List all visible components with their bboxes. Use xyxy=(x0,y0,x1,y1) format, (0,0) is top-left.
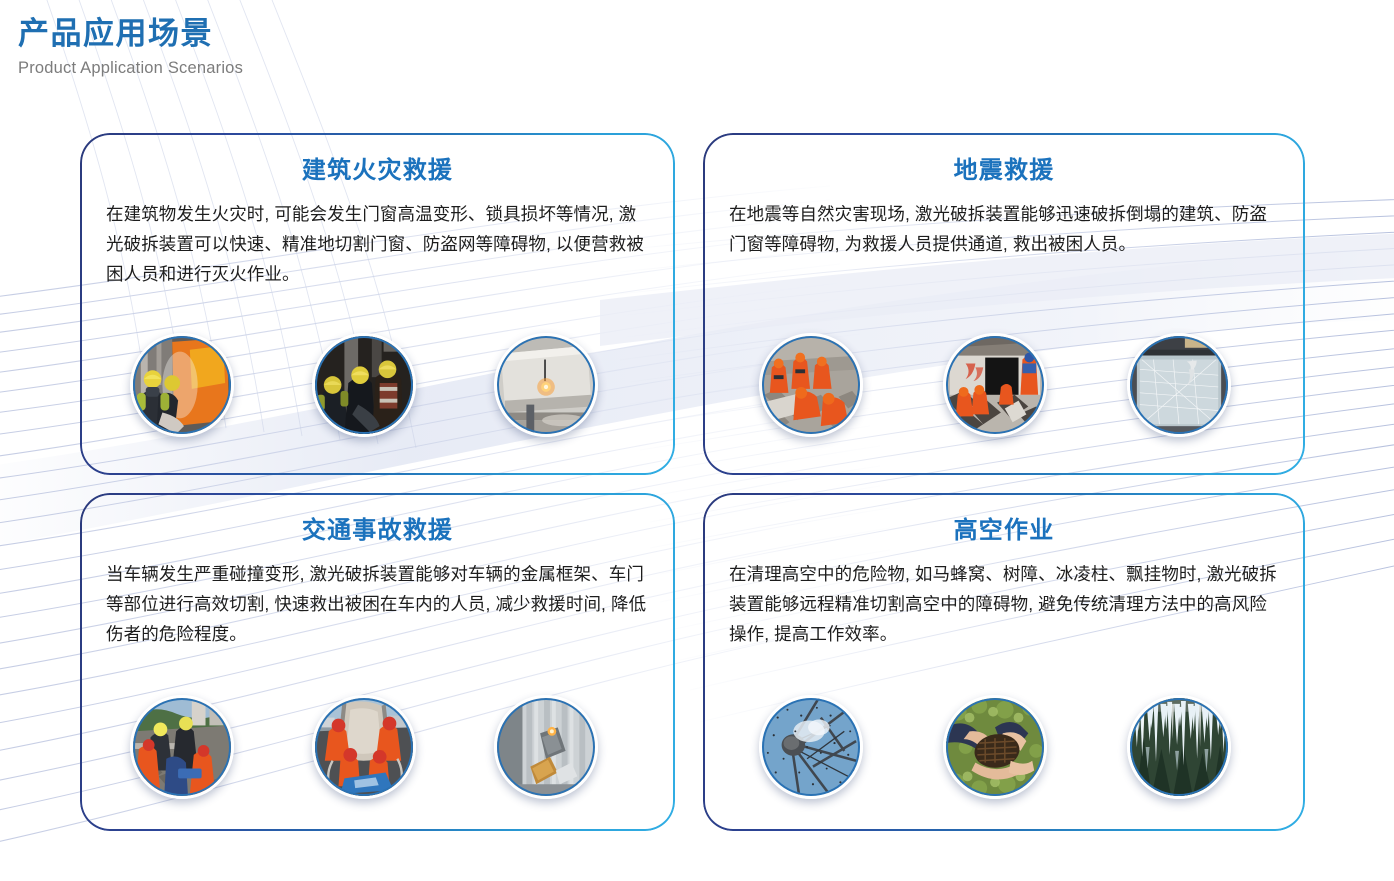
laser-cutting-concrete-photo[interactable] xyxy=(494,333,598,437)
card-building-fire-rescue[interactable]: 建筑火灾救援 在建筑物发生火灾时, 可能会发生门窗高温变形、锁具损坏等情况, 激… xyxy=(80,133,675,475)
firefighters-spraying-flame-photo[interactable] xyxy=(130,333,234,437)
thumb-slot-1[interactable] xyxy=(759,333,863,437)
thumb-slot-1[interactable] xyxy=(759,695,863,799)
poster-header: 产品应用场景 Product Application Scenarios xyxy=(18,16,243,78)
card-body-text: 在建筑物发生火灾时, 可能会发生门窗高温变形、锁具损坏等情况, 激光破拆装置可以… xyxy=(106,199,649,289)
card-title: 高空作业 xyxy=(703,510,1305,545)
thumb-slot-1[interactable] xyxy=(130,695,234,799)
firefighters-in-smoke-photo[interactable] xyxy=(312,333,416,437)
card-body: 在清理高空中的危险物, 如马蜂窝、树障、冰凌柱、飘挂物时, 激光破拆装置能够远程… xyxy=(703,559,1305,649)
page-subtitle: Product Application Scenarios xyxy=(18,59,243,79)
thumb-slot-2[interactable] xyxy=(312,333,416,437)
card-body: 当车辆发生严重碰撞变形, 激光破拆装置能够对车辆的金属框架、车门等部位进行高效切… xyxy=(80,559,675,649)
thumb-slot-3[interactable] xyxy=(494,695,598,799)
card-earthquake-rescue[interactable]: 地震救援 在地震等自然灾害现场, 激光破拆装置能够迅速破拆倒塌的建筑、防盗门窗等… xyxy=(703,133,1305,475)
card-body: 在建筑物发生火灾时, 可能会发生门窗高温变形、锁具损坏等情况, 激光破拆装置可以… xyxy=(80,199,675,289)
thumb-slot-3[interactable] xyxy=(1127,695,1231,799)
thumb-slot-2[interactable] xyxy=(943,695,1047,799)
thumb-slot-2[interactable] xyxy=(312,695,416,799)
card-title: 建筑火灾救援 xyxy=(80,150,675,185)
thumb-slot-2[interactable] xyxy=(943,333,1047,437)
card-title: 交通事故救援 xyxy=(80,510,675,545)
thumb-slot-3[interactable] xyxy=(1127,333,1231,437)
thumb-slot-3[interactable] xyxy=(494,333,598,437)
collapsed-building-opening-photo[interactable] xyxy=(943,333,1047,437)
page-title: 产品应用场景 xyxy=(18,16,243,52)
vehicle-crash-rescue-photo[interactable] xyxy=(130,695,234,799)
card-body-text: 在清理高空中的危险物, 如马蜂窝、树障、冰凌柱、飘挂物时, 激光破拆装置能够远程… xyxy=(729,559,1279,649)
card-body-text: 当车辆发生严重碰撞变形, 激光破拆装置能够对车辆的金属框架、车门等部位进行高效切… xyxy=(106,559,649,649)
card-body-text: 在地震等自然灾害现场, 激光破拆装置能够迅速破拆倒塌的建筑、防盗门窗等障碍物, … xyxy=(729,199,1279,259)
thumb-slot-1[interactable] xyxy=(130,333,234,437)
poster-canvas: 产品应用场景 Product Application Scenarios 建筑火… xyxy=(0,0,1394,881)
card-traffic-accident-rescue[interactable]: 交通事故救援 当车辆发生严重碰撞变形, 激光破拆装置能够对车辆的金属框架、车门等… xyxy=(80,493,675,831)
shattered-security-window-photo[interactable] xyxy=(1127,333,1231,437)
rescuers-lifting-car-roof-photo[interactable] xyxy=(312,695,416,799)
icicles-on-trees-photo[interactable] xyxy=(1127,695,1231,799)
laser-cutting-metal-pole-photo[interactable] xyxy=(494,695,598,799)
card-high-altitude-operation[interactable]: 高空作业 在清理高空中的危险物, 如马蜂窝、树障、冰凌柱、飘挂物时, 激光破拆装… xyxy=(703,493,1305,831)
card-body: 在地震等自然灾害现场, 激光破拆装置能够迅速破拆倒塌的建筑、防盗门窗等障碍物, … xyxy=(703,199,1305,259)
card-title: 地震救援 xyxy=(703,150,1305,185)
rescuers-in-rubble-photo[interactable] xyxy=(759,333,863,437)
hands-holding-honeycomb-photo[interactable] xyxy=(943,695,1047,799)
wasp-nest-on-pylon-photo[interactable] xyxy=(759,695,863,799)
